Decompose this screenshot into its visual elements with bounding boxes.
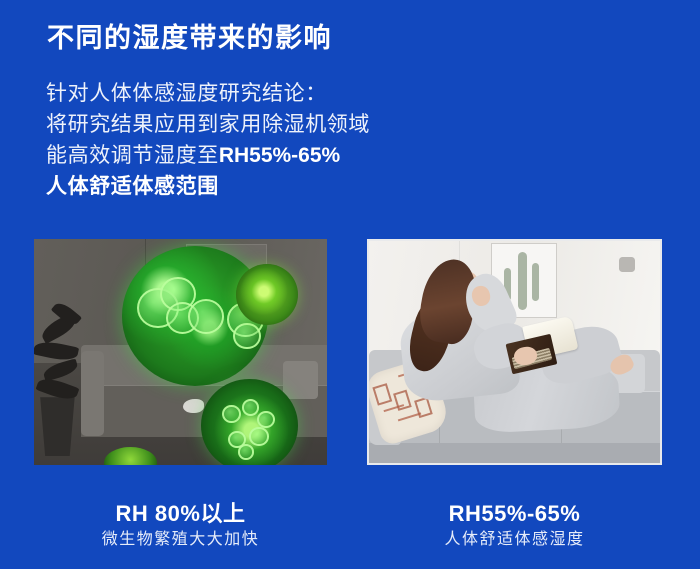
copy-line-4: 人体舒适体感范围	[46, 171, 466, 202]
page-title: 不同的湿度带来的影响	[47, 21, 332, 55]
germ-blob	[238, 444, 255, 460]
germ-blob	[222, 405, 241, 423]
copy-line-3: 能高效调节湿度至RH55%-65%	[46, 140, 466, 171]
caption-high-humidity: RH 80%以上 微生物繁殖大大加快	[34, 500, 327, 552]
copy-line-3-prefix: 能高效调节湿度至	[46, 144, 219, 167]
germ-blob	[188, 299, 224, 334]
caption-comfort-humidity: RH55%-65% 人体舒适体感湿度	[367, 500, 662, 552]
light-room-scene	[369, 241, 660, 463]
woman-reading-figure	[389, 259, 639, 454]
germ-blob	[233, 323, 260, 349]
humidity-comparison-poster: 不同的湿度带来的影响 针对人体体感湿度研究结论： 将研究结果应用到家用除湿机领域…	[0, 0, 700, 569]
germ-cluster-small-top	[236, 264, 298, 325]
dark-couch-pillow	[283, 361, 318, 399]
copy-line-3-highlight: RH55%-65%	[219, 144, 340, 167]
panel-image-high-humidity	[34, 239, 327, 465]
panel-image-comfort-humidity	[367, 239, 662, 465]
dark-room-scene	[34, 239, 327, 465]
germ-blob	[249, 427, 268, 446]
caption-subtitle: 人体舒适体感湿度	[367, 528, 662, 552]
germ-blob	[257, 411, 275, 428]
germ-blob	[242, 399, 260, 416]
caption-title: RH55%-65%	[367, 500, 662, 528]
copy-line-2: 将研究结果应用到家用除湿机领域	[46, 109, 466, 140]
caption-title: RH 80%以上	[34, 500, 327, 528]
germ-cluster-bottom	[201, 379, 298, 465]
body-copy-block: 针对人体体感湿度研究结论： 将研究结果应用到家用除湿机领域 能高效调节湿度至RH…	[46, 78, 466, 202]
dark-bird-ornament	[183, 399, 204, 413]
dark-couch-arm	[81, 351, 104, 436]
copy-line-1: 针对人体体感湿度研究结论：	[46, 78, 466, 109]
caption-subtitle: 微生物繁殖大大加快	[34, 528, 327, 552]
